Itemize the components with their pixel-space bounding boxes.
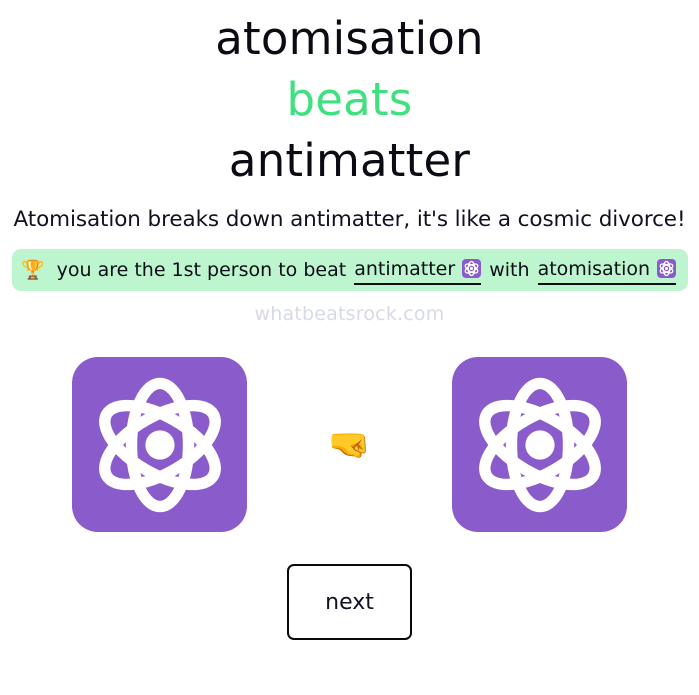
- record-winning-word: atomisation: [538, 256, 650, 282]
- record-beaten-word: antimatter: [354, 256, 455, 282]
- record-winning-word-chip[interactable]: atomisation: [538, 256, 676, 285]
- versus-row: 🤜: [0, 357, 699, 532]
- record-banner-text: you are the 1st person to beat antimatte…: [57, 256, 678, 285]
- atom-icon: [87, 372, 233, 518]
- record-beaten-word-chip[interactable]: antimatter: [354, 256, 481, 285]
- record-banner-middle-text: with: [489, 257, 529, 283]
- trophy-icon: 🏆: [21, 261, 45, 280]
- headline-verb: beats: [0, 69, 699, 130]
- headline-target-word: antimatter: [0, 130, 699, 191]
- atom-icon: [462, 259, 481, 278]
- record-banner-lead-text: you are the 1st person to beat: [57, 257, 347, 283]
- right-item-card[interactable]: [452, 357, 627, 532]
- record-banner: 🏆 you are the 1st person to beat antimat…: [12, 249, 688, 291]
- left-item-card[interactable]: [72, 357, 247, 532]
- headline-guess-word: atomisation: [0, 8, 699, 69]
- headline: atomisation beats antimatter: [0, 8, 699, 191]
- left-card-slot: [65, 357, 255, 532]
- atom-icon: [467, 372, 613, 518]
- atom-icon: [657, 259, 676, 278]
- game-result-screen: atomisation beats antimatter Atomisation…: [0, 0, 699, 695]
- next-button[interactable]: next: [287, 564, 412, 640]
- right-card-slot: [445, 357, 635, 532]
- versus-separator: 🤜: [255, 428, 445, 462]
- fist-bump-icon: 🤜: [328, 428, 370, 462]
- next-button-wrap: next: [0, 564, 699, 640]
- result-explanation: Atomisation breaks down antimatter, it's…: [0, 205, 699, 235]
- site-watermark: whatbeatsrock.com: [255, 303, 445, 325]
